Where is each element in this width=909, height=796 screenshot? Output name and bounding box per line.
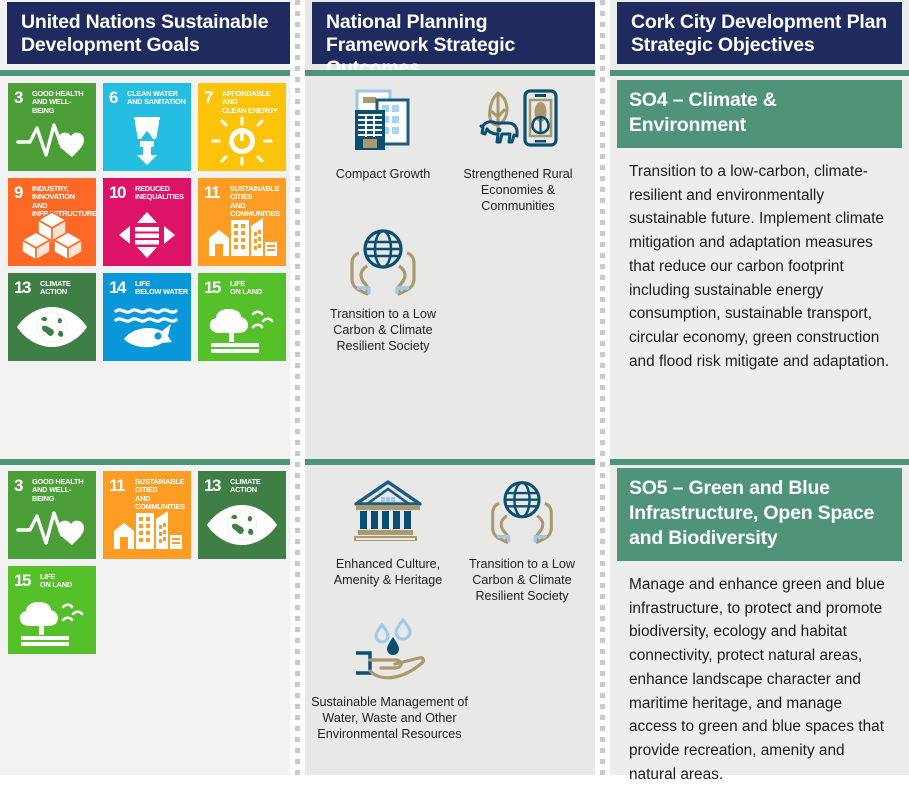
tree-birds-icon [198,305,286,357]
sdg-label: Life Below Water [135,280,189,297]
sdg-tile-6: 6Clean Water and Sanitation [103,83,191,171]
globe-hands-icon [452,472,592,552]
npf-item-label: Compact Growth [313,166,453,182]
sdg-number: 3 [14,477,22,494]
npf-item-sustainable-water-waste: Sustainable Management of Water, Waste a… [307,610,472,742]
header-objectives-title: Cork City Development Plan Strategic Obj… [631,11,888,57]
objective-body: Transition to a low-carbon, climate-resi… [617,148,902,383]
sun-power-icon [198,115,286,167]
sdg-number: 6 [109,89,117,106]
sdg-number: 11 [204,184,219,201]
row2-rule-col2 [305,459,595,465]
buildings-icon [313,82,453,162]
city-icon [103,503,191,555]
objective-title: SO4 – Climate & Environment [617,80,902,148]
sdg-label: Climate Action [230,478,284,495]
sdg-number: 11 [109,477,124,494]
npf-item-label: Enhanced Culture, Amenity & Heritage [313,556,463,588]
sdg-number: 9 [14,184,22,201]
header-un-sdg: United Nations Sustainable Development G… [7,2,290,64]
tree-birds-icon [8,598,96,650]
sdg-number: 7 [204,89,212,106]
sdg-label: Reduced Inequalities [135,185,189,202]
heartbeat-icon [8,115,96,167]
column-divider-1 [290,0,305,775]
objective-card-so5: SO5 – Green and Blue Infrastructure, Ope… [617,468,902,796]
sdg-number: 10 [109,184,125,201]
water-glass-icon [103,115,191,167]
npf-row1: Compact Growth Stre [305,80,595,455]
globe-hands-icon [313,222,453,302]
npf-row2: Enhanced Culture, Amenity & Heritage Tra… [305,468,595,775]
sdg-number: 15 [204,279,220,296]
heartbeat-icon [8,503,96,555]
objective-body: Manage and enhance green and blue infras… [617,561,902,796]
sdg-tile-9: 9Industry, Innovation and Infrastructure [8,178,96,266]
npf-item-label: Transition to a Low Carbon & Climate Res… [313,306,453,354]
header-un-sdg-title: United Nations Sustainable Development G… [21,11,276,57]
sdg-label: Clean Water and Sanitation [127,90,188,107]
row2-rule-col1 [0,459,290,465]
sdg-tile-11: 11Sustainable Cities and Communities [103,471,191,559]
water-hand-icon [307,610,472,690]
sdg-grid-row1: 3Good Health and Well-being6Clean Water … [8,83,286,361]
sdg-label: Life On Land [40,573,94,590]
temple-icon [313,472,463,552]
cubes-icon [8,210,96,262]
eye-globe-icon [8,305,96,357]
sdg-number: 13 [14,279,30,296]
npf-item-culture-heritage: Enhanced Culture, Amenity & Heritage [313,472,463,588]
sdg-alignment-table: United Nations Sustainable Development G… [0,0,909,775]
sdg-tile-13: 13Climate Action [198,471,286,559]
sdg-tile-15: 15Life On Land [8,566,96,654]
sdg-label: Climate Action [40,280,94,297]
sdg-number: 13 [204,477,220,494]
npf-item-label: Strengthened Rural Economies & Communiti… [448,166,588,214]
rural-leaf-cow-icon [448,82,588,162]
npf-item-rural-economies: Strengthened Rural Economies & Communiti… [448,82,588,214]
row2-rule-col3 [610,459,909,465]
sdg-tile-11: 11Sustainable Cities and Communities [198,178,286,266]
header-npf: National Planning Framework Strategic Ou… [312,2,595,64]
row1-rule-col3 [610,70,909,76]
table-header-row: United Nations Sustainable Development G… [0,0,909,66]
sdg-label: Good Health and Well-being [32,478,93,503]
objective-card-so4: SO4 – Climate & Environment Transition t… [617,80,902,383]
sdg-tile-7: 7Affordable and Clean Energy [198,83,286,171]
npf-item-compact-growth: Compact Growth [313,82,453,182]
sdg-label: Affordable and Clean Energy [222,90,283,115]
sdg-tile-3: 3Good Health and Well-being [8,83,96,171]
sdg-tile-10: 10Reduced Inequalities [103,178,191,266]
sdg-grid-row2: 3Good Health and Well-being11Sustainable… [8,471,286,654]
row1-rule-col1 [0,70,290,76]
eye-globe-icon [198,503,286,555]
npf-item-low-carbon-society-2: Transition to a Low Carbon & Climate Res… [452,472,592,604]
sdg-number: 14 [109,279,125,296]
sdg-number: 3 [14,89,22,106]
sdg-label: Life On Land [230,280,284,297]
sdg-tile-13: 13Climate Action [8,273,96,361]
city-icon [198,210,286,262]
objective-title: SO5 – Green and Blue Infrastructure, Ope… [617,468,902,561]
column-divider-2 [595,0,610,775]
equals-arrows-icon [103,210,191,262]
header-objectives: Cork City Development Plan Strategic Obj… [617,2,902,64]
sdg-label: Good Health and Well-being [32,90,93,115]
npf-item-low-carbon-society: Transition to a Low Carbon & Climate Res… [313,222,453,354]
row1-rule-col2 [305,70,595,76]
sdg-tile-15: 15Life On Land [198,273,286,361]
fish-icon [103,305,191,357]
sdg-tile-14: 14Life Below Water [103,273,191,361]
sdg-tile-3: 3Good Health and Well-being [8,471,96,559]
npf-item-label: Sustainable Management of Water, Waste a… [307,694,472,742]
npf-item-label: Transition to a Low Carbon & Climate Res… [452,556,592,604]
sdg-number: 15 [14,572,30,589]
